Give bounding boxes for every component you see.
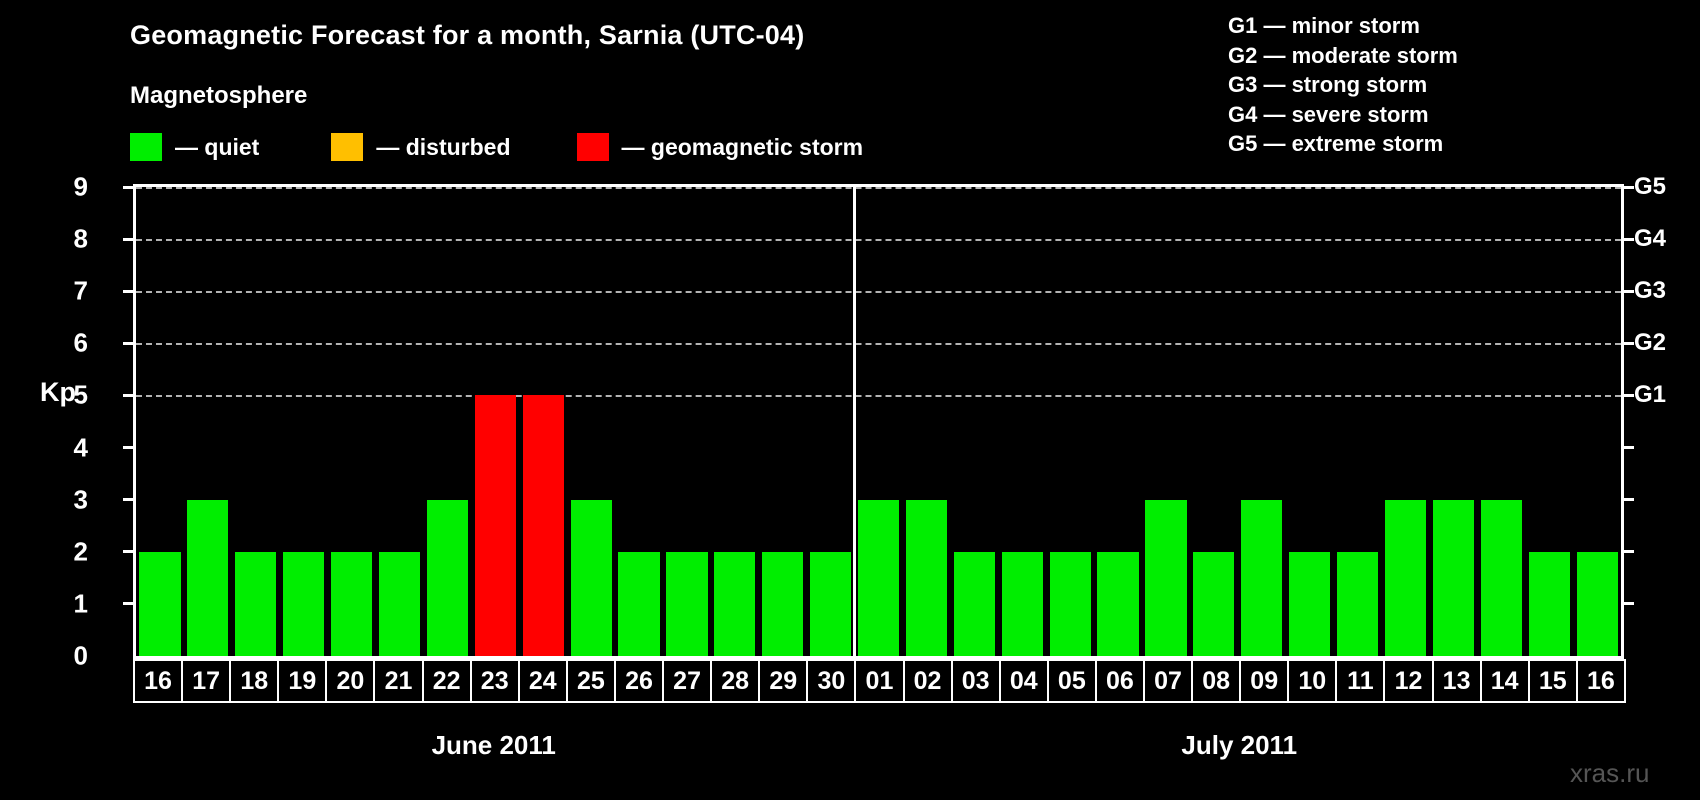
g-scale-legend: G1 — minor stormG2 — moderate stormG3 — …: [1228, 11, 1458, 159]
date-cell[interactable]: 03: [951, 659, 1001, 703]
date-cell[interactable]: 18: [229, 659, 279, 703]
bar[interactable]: [1193, 552, 1234, 656]
g-axis-tick-label: G3: [1634, 277, 1666, 305]
y-axis-tick-label: 2: [48, 536, 88, 567]
bar[interactable]: [1433, 500, 1474, 656]
month-caption: July 2011: [1181, 730, 1297, 761]
y-axis-tick-label: 0: [48, 641, 88, 672]
bar[interactable]: [762, 552, 803, 656]
y-tick: [123, 186, 136, 189]
y-axis-tick-label: 7: [48, 276, 88, 307]
magnetosphere-label: Magnetosphere: [130, 82, 307, 110]
legend-item-storm: — geomagnetic storm: [577, 133, 864, 161]
bar[interactable]: [810, 552, 851, 656]
y-axis-tick-label: 1: [48, 588, 88, 619]
bar-cell[interactable]: [1573, 187, 1621, 656]
bar-cell[interactable]: [1094, 187, 1142, 656]
bar[interactable]: [858, 500, 899, 656]
date-cell[interactable]: 30: [806, 659, 856, 703]
y-axis-tick-label: 3: [48, 484, 88, 515]
date-cell[interactable]: 09: [1239, 659, 1289, 703]
date-cell[interactable]: 01: [854, 659, 904, 703]
bar[interactable]: [1529, 552, 1570, 656]
bar-cell[interactable]: [1525, 187, 1573, 656]
y-tick: [123, 498, 136, 501]
y-tick: [1621, 186, 1634, 189]
bar[interactable]: [1050, 552, 1091, 656]
y-tick: [1621, 394, 1634, 397]
y-tick: [123, 394, 136, 397]
date-cell[interactable]: 07: [1143, 659, 1193, 703]
plot-area: [133, 184, 1624, 659]
month-caption: June 2011: [432, 730, 556, 761]
y-tick: [123, 290, 136, 293]
bar[interactable]: [571, 500, 612, 656]
bar[interactable]: [427, 500, 468, 656]
y-tick: [1621, 446, 1634, 449]
date-cell[interactable]: 12: [1383, 659, 1433, 703]
date-cell[interactable]: 16: [133, 659, 183, 703]
g-legend-line: G2 — moderate storm: [1228, 41, 1458, 71]
date-cell[interactable]: 04: [999, 659, 1049, 703]
bar-cell[interactable]: [328, 187, 376, 656]
y-tick: [123, 238, 136, 241]
date-cell[interactable]: 02: [903, 659, 953, 703]
bar[interactable]: [139, 552, 180, 656]
bar[interactable]: [714, 552, 755, 656]
y-tick: [1621, 342, 1634, 345]
g-axis-tick-label: G4: [1634, 225, 1666, 253]
y-tick: [123, 602, 136, 605]
bar[interactable]: [1577, 552, 1618, 656]
bar-cell[interactable]: [807, 187, 855, 656]
bar[interactable]: [1289, 552, 1330, 656]
date-cell[interactable]: 23: [470, 659, 520, 703]
date-cell[interactable]: 21: [373, 659, 423, 703]
legend-label-disturbed: — disturbed: [376, 134, 510, 161]
bar-cell[interactable]: [280, 187, 328, 656]
date-cell[interactable]: 13: [1432, 659, 1482, 703]
bar-cell[interactable]: [998, 187, 1046, 656]
bar-cell[interactable]: [519, 187, 567, 656]
bar[interactable]: [1385, 500, 1426, 656]
y-tick: [123, 342, 136, 345]
g-axis-tick-label: G2: [1634, 329, 1666, 357]
g-axis-tick-label: G5: [1634, 173, 1666, 201]
bar[interactable]: [1002, 552, 1043, 656]
legend-label-quiet: — quiet: [175, 134, 259, 161]
date-cell[interactable]: 05: [1047, 659, 1097, 703]
bar-cell[interactable]: [1382, 187, 1430, 656]
date-cell[interactable]: 26: [614, 659, 664, 703]
bar-cell[interactable]: [615, 187, 663, 656]
y-tick: [1621, 290, 1634, 293]
green-square-icon: [130, 133, 162, 161]
y-axis-tick-label: 9: [48, 172, 88, 203]
bar[interactable]: [187, 500, 228, 656]
bar-cell[interactable]: [1429, 187, 1477, 656]
date-axis: 1617181920212223242526272829300102030405…: [133, 659, 1624, 703]
y-tick: [1621, 602, 1634, 605]
legend-item-quiet: — quiet: [130, 133, 259, 161]
date-cell[interactable]: 11: [1335, 659, 1385, 703]
g-legend-line: G5 — extreme storm: [1228, 129, 1458, 159]
date-cell[interactable]: 08: [1191, 659, 1241, 703]
red-square-icon: [577, 133, 609, 161]
y-axis-tick-label: 6: [48, 328, 88, 359]
bar-cell[interactable]: [903, 187, 951, 656]
date-cell[interactable]: 25: [566, 659, 616, 703]
bar[interactable]: [331, 552, 372, 656]
bar[interactable]: [1481, 500, 1522, 656]
bar[interactable]: [618, 552, 659, 656]
bar-cell[interactable]: [184, 187, 232, 656]
y-axis-tick-label: 4: [48, 432, 88, 463]
plot-inner: [136, 187, 1621, 656]
bar-cell[interactable]: [1238, 187, 1286, 656]
date-cell[interactable]: 29: [758, 659, 808, 703]
date-cell[interactable]: 17: [181, 659, 231, 703]
bar-cell[interactable]: [232, 187, 280, 656]
y-tick: [1621, 498, 1634, 501]
bar[interactable]: [954, 552, 995, 656]
date-cell[interactable]: 19: [277, 659, 327, 703]
date-cell[interactable]: 06: [1095, 659, 1145, 703]
legend-label-storm: — geomagnetic storm: [622, 134, 864, 161]
bar[interactable]: [475, 395, 516, 656]
date-cell[interactable]: 24: [518, 659, 568, 703]
bar[interactable]: [1097, 552, 1138, 656]
bar-cell[interactable]: [567, 187, 615, 656]
bar-cell[interactable]: [663, 187, 711, 656]
legend: — quiet — disturbed — geomagnetic storm: [130, 133, 863, 161]
bar[interactable]: [666, 552, 707, 656]
legend-item-disturbed: — disturbed: [331, 133, 510, 161]
bar[interactable]: [379, 552, 420, 656]
y-tick: [123, 446, 136, 449]
date-cell[interactable]: 20: [325, 659, 375, 703]
y-axis-tick-label: 8: [48, 224, 88, 255]
bar-cell[interactable]: [1046, 187, 1094, 656]
bar-cell[interactable]: [1477, 187, 1525, 656]
bar-cell[interactable]: [376, 187, 424, 656]
g-axis-tick-label: G1: [1634, 381, 1666, 409]
g-legend-line: G1 — minor storm: [1228, 11, 1458, 41]
bar[interactable]: [283, 552, 324, 656]
bar[interactable]: [1145, 500, 1186, 656]
y-tick: [1621, 238, 1634, 241]
bar-cell[interactable]: [1190, 187, 1238, 656]
date-cell[interactable]: 10: [1287, 659, 1337, 703]
bar-cell[interactable]: [759, 187, 807, 656]
bar[interactable]: [906, 500, 947, 656]
date-cell[interactable]: 28: [710, 659, 760, 703]
bar-cell[interactable]: [1334, 187, 1382, 656]
watermark: xras.ru: [1570, 758, 1649, 789]
bar-cell[interactable]: [950, 187, 998, 656]
bar-cell[interactable]: [855, 187, 903, 656]
y-tick: [1621, 550, 1634, 553]
orange-square-icon: [331, 133, 363, 161]
g-legend-line: G3 — strong storm: [1228, 70, 1458, 100]
month-divider: [853, 187, 856, 656]
date-cell[interactable]: 16: [1576, 659, 1626, 703]
y-axis-tick-label: 5: [48, 380, 88, 411]
bar[interactable]: [523, 395, 564, 656]
y-tick: [123, 550, 136, 553]
bar-cell[interactable]: [136, 187, 184, 656]
date-cell[interactable]: 14: [1480, 659, 1530, 703]
date-cell[interactable]: 22: [422, 659, 472, 703]
page-title: Geomagnetic Forecast for a month, Sarnia…: [130, 20, 804, 51]
g-legend-line: G4 — severe storm: [1228, 100, 1458, 130]
bar-cell[interactable]: [471, 187, 519, 656]
bar[interactable]: [1241, 500, 1282, 656]
bar-cell[interactable]: [1142, 187, 1190, 656]
date-cell[interactable]: 15: [1528, 659, 1578, 703]
bar[interactable]: [1337, 552, 1378, 656]
date-cell[interactable]: 27: [662, 659, 712, 703]
bar[interactable]: [235, 552, 276, 656]
bar-cell[interactable]: [711, 187, 759, 656]
bar-series: [136, 187, 1621, 656]
bar-cell[interactable]: [1286, 187, 1334, 656]
bar-cell[interactable]: [423, 187, 471, 656]
